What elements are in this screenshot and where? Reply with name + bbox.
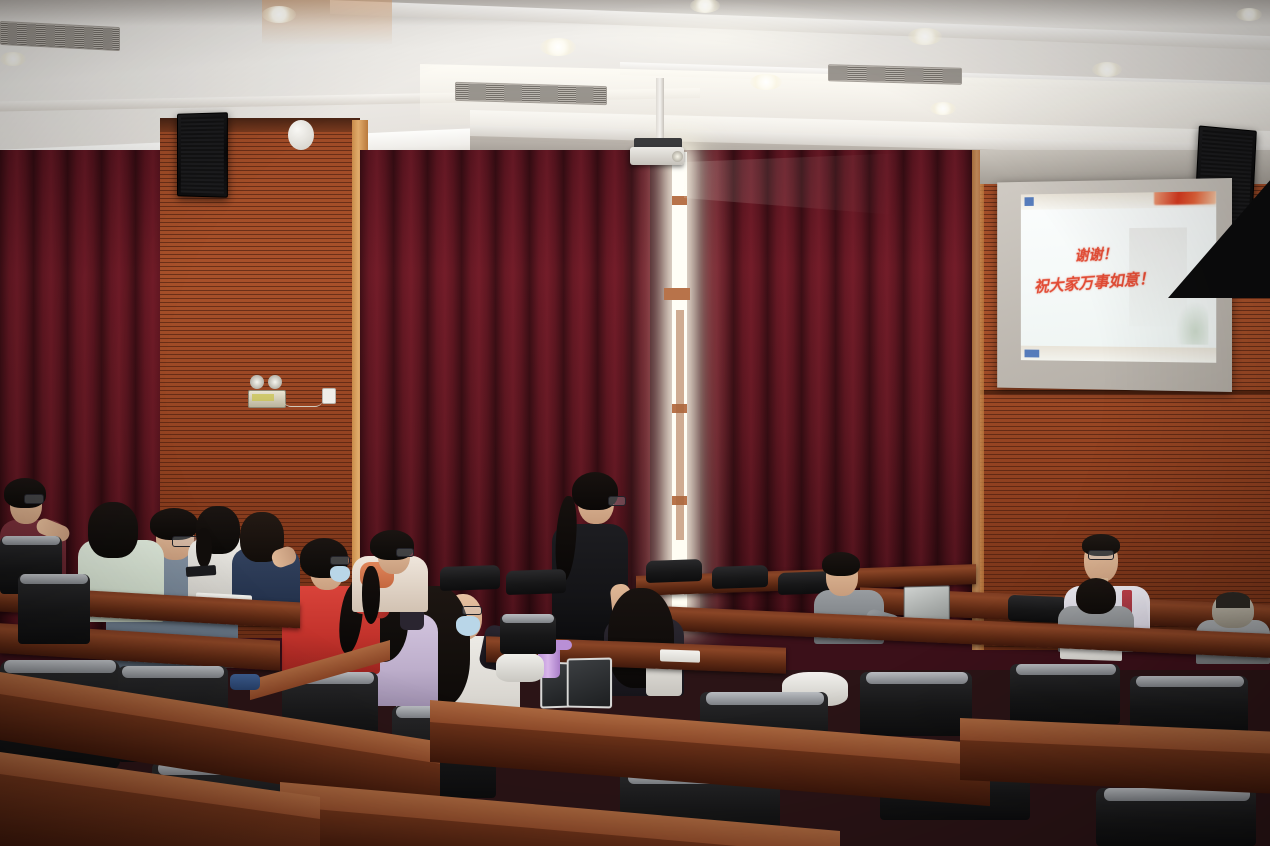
slide-logo-bottom bbox=[1025, 350, 1040, 358]
downlight-9 bbox=[1236, 8, 1262, 21]
window-mullion-2 bbox=[664, 288, 690, 300]
paper-center bbox=[660, 649, 700, 662]
attendee-red-glasses bbox=[330, 556, 350, 565]
chair-back-2 bbox=[712, 565, 768, 589]
downlight-6 bbox=[1092, 62, 1122, 77]
chair-fg-11 bbox=[1010, 664, 1120, 724]
projector-lens bbox=[672, 151, 683, 162]
downlight-1 bbox=[262, 6, 296, 23]
white-jacket-center bbox=[496, 652, 544, 682]
attendee-behind-glasses bbox=[396, 548, 414, 557]
attendee-maroon-glasses bbox=[24, 494, 44, 504]
hvac-vent-right bbox=[828, 64, 962, 85]
chair-fg-2 bbox=[18, 574, 90, 644]
slide-line-1: 谢谢！ bbox=[1074, 243, 1117, 266]
chair-mid-2 bbox=[440, 565, 500, 591]
attendee-standing-center-glasses bbox=[608, 496, 626, 506]
presenter-glasses bbox=[1088, 550, 1114, 560]
emergency-lamp-left bbox=[250, 375, 264, 389]
projector-pole bbox=[656, 78, 664, 140]
window-frame-post bbox=[676, 310, 684, 540]
emergency-light-cord bbox=[283, 399, 323, 407]
blue-bag bbox=[230, 674, 260, 690]
emergency-light-label bbox=[252, 394, 274, 401]
attendee-front-right-head bbox=[1076, 578, 1116, 614]
chair-mid-1 bbox=[500, 614, 556, 654]
attendee-behind-ponytail bbox=[362, 566, 380, 624]
downlight-4 bbox=[750, 74, 782, 90]
downlight-8 bbox=[0, 52, 26, 66]
attendee-red-facemask bbox=[330, 566, 350, 582]
attendee-laptop-hair bbox=[822, 552, 860, 576]
tablet-stand-right bbox=[567, 658, 612, 709]
emergency-lamp-right bbox=[268, 375, 282, 389]
attendee-white-mask-glasses bbox=[462, 606, 482, 615]
wall-power-outlet bbox=[322, 388, 336, 404]
attendee-white-mask-facemask bbox=[456, 616, 480, 636]
attendee-white-left-ponytail bbox=[196, 528, 212, 568]
downlight-5 bbox=[908, 28, 942, 45]
chair-mid-3 bbox=[506, 569, 566, 595]
chair-fg-13 bbox=[1096, 788, 1256, 846]
slide-logo-top bbox=[1025, 197, 1034, 206]
downlight-7 bbox=[930, 102, 956, 115]
attendee-mint-hair bbox=[88, 502, 138, 558]
attendee-far-right-hair-dark bbox=[1216, 592, 1250, 608]
lecture-hall-photo: 谢谢！ 祝大家万事如意！ bbox=[0, 0, 1270, 846]
slide-banner-graphic bbox=[1154, 191, 1216, 205]
ceiling-glow bbox=[560, 0, 880, 70]
wall-speaker-left bbox=[177, 112, 228, 198]
slide-bottom-band bbox=[1021, 346, 1216, 363]
chair-back-1 bbox=[646, 559, 702, 583]
left-desk-device bbox=[186, 565, 217, 577]
ceiling-smoke-detector bbox=[288, 120, 314, 150]
chair-fg-10 bbox=[860, 672, 972, 736]
curtain-center-right bbox=[700, 150, 990, 620]
